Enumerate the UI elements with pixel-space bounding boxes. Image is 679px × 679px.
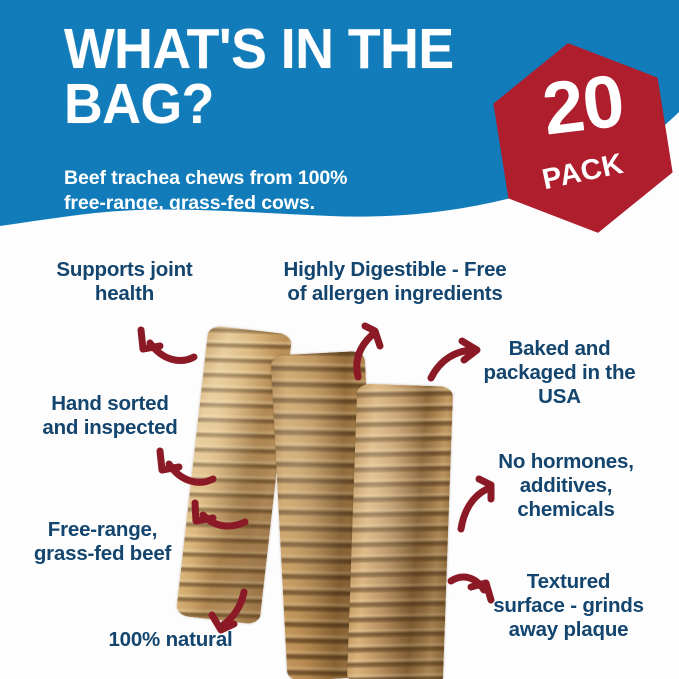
feature-hand-sorted-inspected: Hand sorted and inspected xyxy=(10,392,210,440)
pack-count-badge: 20 PACK xyxy=(487,42,679,234)
product-infographic: WHAT'S IN THE BAG? Beef trachea chews fr… xyxy=(0,0,679,679)
feature-highly-digestible: Highly Digestible - Free of allergen ing… xyxy=(240,258,550,306)
feature-line: Baked and xyxy=(452,337,667,361)
feature-line: surface - grinds xyxy=(466,594,671,618)
feature-100-natural: 100% natural xyxy=(78,628,263,652)
feature-baked-packaged-usa: Baked and packaged in the USA xyxy=(452,337,667,408)
feature-line: Highly Digestible - Free xyxy=(240,258,550,282)
feature-line: 100% natural xyxy=(78,628,263,652)
feature-line: Hand sorted xyxy=(10,392,210,416)
feature-no-hormones: No hormones, additives, chemicals xyxy=(466,450,666,521)
banner-subtitle: Beef trachea chews from 100% free-range,… xyxy=(64,166,484,216)
feature-supports-joint-health: Supports joint health xyxy=(22,258,227,306)
feature-line: Free-range, xyxy=(10,518,195,542)
subtitle-line-2: free-range, grass-fed cows. xyxy=(64,191,484,216)
trachea-chew-3 xyxy=(347,383,453,679)
subtitle-line-1: Beef trachea chews from 100% xyxy=(64,166,484,191)
product-image xyxy=(186,325,471,679)
feature-line: grass-fed beef xyxy=(10,542,195,566)
feature-line: of allergen ingredients xyxy=(240,282,550,306)
headline-line-2: BAG? xyxy=(64,77,506,132)
feature-line: and inspected xyxy=(10,416,210,440)
feature-line: packaged in the xyxy=(452,361,667,385)
feature-line: health xyxy=(22,282,227,306)
feature-free-range-grass-fed: Free-range, grass-fed beef xyxy=(10,518,195,566)
feature-textured-surface: Textured surface - grinds away plaque xyxy=(466,570,671,641)
page-title: WHAT'S IN THE BAG? xyxy=(64,22,506,133)
chew-shading xyxy=(347,383,453,679)
feature-line: chemicals xyxy=(466,498,666,522)
feature-line: Textured xyxy=(466,570,671,594)
feature-line: USA xyxy=(452,385,667,409)
feature-line: Supports joint xyxy=(22,258,227,282)
feature-line: additives, xyxy=(466,474,666,498)
feature-line: No hormones, xyxy=(466,450,666,474)
feature-line: away plaque xyxy=(466,618,671,642)
